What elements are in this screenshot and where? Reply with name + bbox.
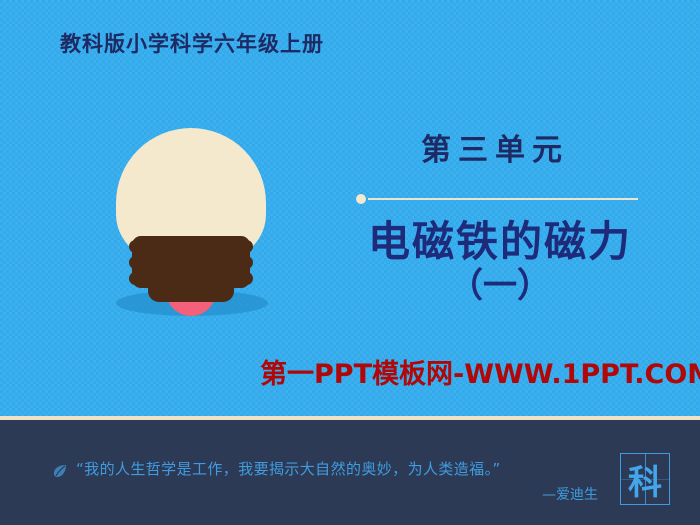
course-label: 教科版小学科学六年级上册 xyxy=(60,28,324,58)
rule-line xyxy=(368,198,638,200)
leaf-icon xyxy=(52,463,68,479)
quote-author: —爱迪生 xyxy=(0,484,598,504)
brand-logo: 科 xyxy=(620,453,670,505)
rule-dot-icon xyxy=(356,194,366,204)
quote-text: “我的人生哲学是工作，我要揭示大自然的奥妙，为人类造福。” xyxy=(76,458,501,479)
watermark-url: 第一PPT模板网-WWW.1PPT.COM xyxy=(260,352,660,391)
title-rule xyxy=(356,192,642,206)
unit-label: 第三单元 xyxy=(330,125,660,169)
presentation-slide: 教科版小学科学六年级上册 第三单元 电磁铁的磁力 （一） 第一PPT模板网-WW… xyxy=(0,0,700,525)
bulb-thread-ridge xyxy=(129,240,253,253)
page-subtitle: （一） xyxy=(320,258,680,307)
bulb-collar xyxy=(148,280,234,302)
bulb-thread-ridge xyxy=(129,256,253,269)
light-bulb-illustration xyxy=(96,128,286,328)
logo-glyph: 科 xyxy=(621,454,669,504)
